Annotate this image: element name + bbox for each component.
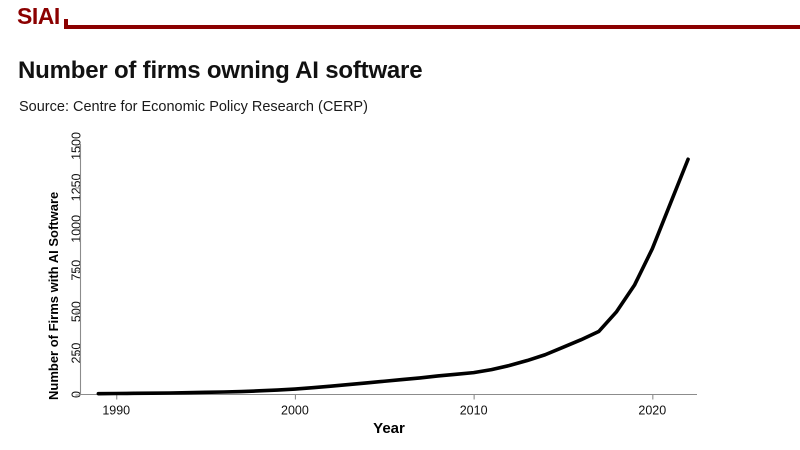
x-tick-label: 2010 [460,404,488,418]
brand-logo: SIAI [17,4,60,28]
x-axis-title: Year [373,420,405,437]
y-axis-tick-labels: 0250500750100012501500 [69,132,83,398]
x-axis-tick-labels: 1990200020102020 [102,404,666,418]
series-line-firms-with-ai-software [98,159,688,393]
chart-canvas: Number of Firms with AI Software 0250500… [0,128,800,450]
y-axis-title: Number of Firms with AI Software [46,192,61,400]
source-caption: Source: Centre for Economic Policy Resea… [19,99,368,115]
slide-header: SIAI [0,0,800,34]
x-tick-label: 1990 [102,404,130,418]
x-axis-ticks [117,395,653,400]
line-chart: Number of Firms with AI Software 0250500… [0,128,800,450]
brand-rule [68,25,800,29]
x-tick-label: 2020 [638,404,666,418]
page-title: Number of firms owning AI software [18,57,422,85]
x-tick-label: 2000 [281,404,309,418]
